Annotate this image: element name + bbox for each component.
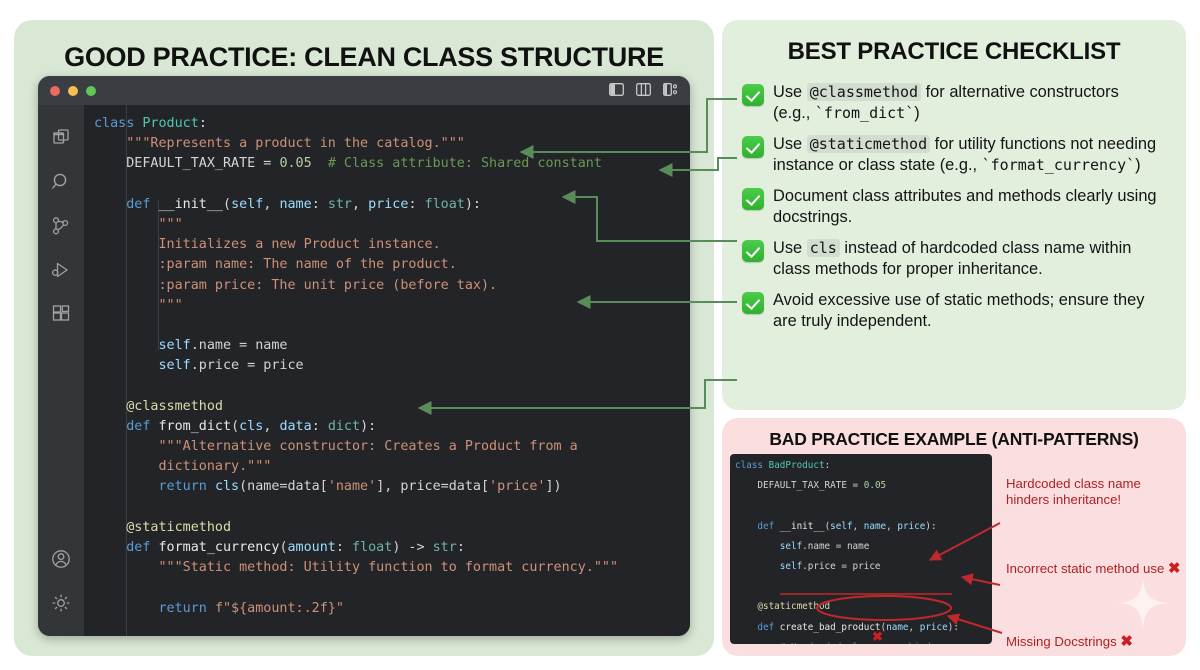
code-token [94,520,126,535]
search-icon[interactable] [50,171,72,193]
code-token: self [231,197,263,212]
code-token: cls [215,479,239,494]
code-token: DEFAULT_TAX_RATE [757,480,847,491]
code-token: float [352,540,392,555]
code-token [735,642,780,644]
code-line: DEFAULT_TAX_RATE = 0.05 [735,479,992,499]
code-line: DEFAULT_TAX_RATE = 0.05 # Class attribut… [94,154,690,174]
toggle-panel-icon[interactable] [636,83,651,96]
code-token: ): [925,521,936,532]
code-line [94,316,690,336]
code-line: """ [94,215,690,235]
good-practice-panel: GOOD PRACTICE: CLEAN CLASS STRUCTURE [14,20,714,656]
code-line: # Hardcoded class name hinders [735,641,992,644]
inline-code: cls [807,239,840,257]
code-token: price [897,521,925,532]
code-token: name [279,197,311,212]
code-line: def __init__(self, name, price): [735,520,992,540]
code-line: self.price = price [735,560,992,580]
extensions-icon[interactable] [50,303,72,325]
python-source-code: class Product: """Represents a product i… [94,114,690,619]
x-mark-icon: ✖ [1168,560,1181,577]
editor-layout-controls [609,83,678,96]
code-token: price [368,197,408,212]
code-token: class [94,116,142,131]
code-token: , [909,622,920,633]
code-token [94,197,126,212]
code-token [94,459,159,474]
code-line: def create_bad_product(name, price): [735,621,992,641]
code-token: ( [231,419,239,434]
code-line: class Product: [94,114,690,134]
code-token [94,560,159,575]
code-token: ( [279,540,287,555]
code-token: ], price=data[ [376,479,489,494]
run-and-debug-icon[interactable] [50,259,72,281]
code-token: ): [465,197,481,212]
checklist-item: Document class attributes and methods cl… [742,186,1172,227]
code-editor-window: class Product: """Represents a product i… [38,76,690,636]
code-token: :param price: The unit price (before tax… [159,278,498,293]
code-line: """ [94,296,690,316]
check-mark-icon [742,292,764,314]
toggle-primary-sidebar-icon[interactable] [609,83,624,96]
code-line [735,499,992,519]
code-token [94,136,126,151]
code-token [312,156,328,171]
code-token: name [864,521,886,532]
code-token [94,419,126,434]
code-token: str [433,540,457,555]
code-token: : [199,116,207,131]
code-token: name [886,622,908,633]
check-mark-icon [742,136,764,158]
text-run: `format_currency` [982,156,1136,174]
checklist-item-label: Use @staticmethod for utility functions … [773,134,1172,175]
code-token: @staticmethod [126,520,231,535]
code-token [735,480,757,491]
code-token: def [126,540,158,555]
editor-activity-bar [38,105,84,636]
code-line: dictionary.""" [94,457,690,477]
code-token: , [263,419,279,434]
code-token [94,257,159,272]
code-line: @staticmethod [94,518,690,538]
best-practice-checklist-panel: BEST PRACTICE CHECKLIST Use @classmethod… [722,20,1186,410]
code-token: : [408,197,424,212]
code-line [94,578,690,598]
code-line: @staticmethod [735,600,992,620]
code-token: , [886,521,897,532]
explorer-icon[interactable] [50,127,72,149]
sparkle-decoration-icon [1116,576,1170,630]
code-token: .price = price [802,561,880,572]
code-token: BadProduct [769,460,825,471]
code-line: :param price: The unit price (before tax… [94,276,690,296]
code-token [94,237,159,252]
code-line: :param name: The name of the product. [94,255,690,275]
code-line: def from_dict(cls, data: dict): [94,417,690,437]
code-token [735,561,780,572]
code-token: 0.05 [279,156,311,171]
code-line: @classmethod [94,397,690,417]
code-token: dict [328,419,360,434]
code-token [94,439,159,454]
editor-title-bar [38,76,690,105]
code-token: from_dict [159,419,232,434]
checklist-item: Avoid excessive use of static methods; e… [742,290,1172,331]
code-token [94,217,159,232]
good-practice-title: GOOD PRACTICE: CLEAN CLASS STRUCTURE [14,42,714,73]
code-line [94,498,690,518]
code-token: @classmethod [126,399,223,414]
code-token: .name = name [191,338,288,353]
code-line: """Represents a product in the catalog."… [94,134,690,154]
code-token [94,540,126,555]
code-token: def [126,419,158,434]
inline-code: @classmethod [807,83,921,101]
code-token: ]) [546,479,562,494]
code-token [94,601,159,616]
code-token: self [830,521,852,532]
code-token: amount [288,540,336,555]
code-token: return [159,479,215,494]
code-token: , [352,197,368,212]
code-token: dictionary.""" [159,459,272,474]
close-window-dot[interactable] [50,86,60,96]
code-token: create_bad_product [780,622,881,633]
code-content-area[interactable]: class Product: """Represents a product i… [84,105,690,636]
code-token: # Class attribute: Shared constant [328,156,602,171]
code-token [735,622,757,633]
code-line [94,376,690,396]
code-token: ( [223,197,231,212]
code-line: class BadProduct: [735,459,992,479]
checklist-item: Use @staticmethod for utility functions … [742,134,1172,175]
window-traffic-lights [50,86,96,96]
code-token: DEFAULT_TAX_RATE [126,156,255,171]
code-token [94,278,159,293]
code-token: , [263,197,279,212]
code-token: data [279,419,311,434]
code-token: """Static method: Utility function to fo… [159,560,619,575]
code-token: format_currency [159,540,280,555]
bad-python-source-code: class BadProduct: DEFAULT_TAX_RATE = 0.0… [735,459,992,644]
code-token [94,338,159,353]
code-token: def [757,521,779,532]
bad-practice-code-block: class BadProduct: DEFAULT_TAX_RATE = 0.0… [730,454,992,644]
code-token: """Alternative constructor: Creates a Pr… [159,439,578,454]
code-token: str [328,197,352,212]
code-token: return [159,601,215,616]
code-line: """Static method: Utility function to fo… [94,558,690,578]
check-mark-icon [742,240,764,262]
code-line: Initializes a new Product instance. [94,235,690,255]
code-token [94,399,126,414]
code-token: """ [159,298,183,313]
annotation-hardcoded-class-name: Hardcoded class name hinders inheritance… [1006,476,1182,508]
code-token: , [853,521,864,532]
code-token: (name=data[ [239,479,328,494]
code-token: 0.05 [864,480,886,491]
check-mark-icon [742,188,764,210]
x-mark-icon: ✖ [1120,633,1133,650]
code-token: """ [159,217,183,232]
code-line: self.name = name [94,336,690,356]
code-token: 'price' [489,479,545,494]
code-line: """Alternative constructor: Creates a Pr… [94,437,690,457]
code-token: self [159,358,191,373]
code-token: ) -> [392,540,432,555]
text-run: ) [1135,156,1140,174]
code-token [735,541,780,552]
code-token [735,601,757,612]
code-token: : [312,419,328,434]
code-token: @staticmethod [757,601,830,612]
text-run: Use [773,83,807,101]
source-control-icon[interactable] [50,215,72,237]
code-token: self [780,561,802,572]
code-line: self.price = price [94,356,690,376]
code-token: # Hardcoded class name hinders [780,642,948,644]
customize-layout-icon[interactable] [663,83,678,96]
code-token: .price = price [191,358,304,373]
check-mark-icon [742,84,764,106]
code-token: ): [948,622,959,633]
text-run: Avoid excessive use of static methods; e… [773,291,1144,330]
code-token: : [336,540,352,555]
code-line: return cls(name=data['name'], price=data… [94,477,690,497]
account-icon[interactable] [50,548,72,570]
settings-gear-icon[interactable] [50,592,72,614]
code-token: = [847,480,864,491]
code-token: : [825,460,831,471]
text-run: Document class attributes and methods cl… [773,187,1157,226]
code-token: .name = name [802,541,869,552]
code-token: Initializes a new Product instance. [159,237,441,252]
bad-practice-title: BAD PRACTICE EXAMPLE (ANTI-PATTERNS) [722,429,1186,450]
code-line: self.name = name [735,540,992,560]
checklist-title: BEST PRACTICE CHECKLIST [722,38,1186,66]
code-token [94,156,126,171]
code-token: : [312,197,328,212]
code-token: """Represents a product in the catalog."… [126,136,465,151]
minimize-window-dot[interactable] [68,86,78,96]
code-token: def [757,622,779,633]
checklist-item: Use @classmethod for alternative constru… [742,82,1172,123]
code-token: f"${amount:.2f}" [215,601,344,616]
checklist-item-label: Use @classmethod for alternative constru… [773,82,1172,123]
code-token: class [735,460,769,471]
code-line: def format_currency(amount: float) -> st… [94,538,690,558]
infographic-root: GOOD PRACTICE: CLEAN CLASS STRUCTURE [0,0,1200,670]
checklist-item-label: Document class attributes and methods cl… [773,186,1172,227]
inline-code: @staticmethod [807,135,930,153]
code-token: __init__ [159,197,224,212]
code-token [94,479,159,494]
code-token [735,521,757,532]
code-token: = [255,156,279,171]
code-token: 'name' [328,479,376,494]
code-token: self [159,338,191,353]
text-run: `from_dict` [815,104,914,122]
code-line [735,580,992,600]
text-run: ) [914,104,919,122]
code-token: __init__ [780,521,825,532]
code-token [94,358,159,373]
code-token [94,298,159,313]
code-line: def __init__(self, name: str, price: flo… [94,195,690,215]
checklist-item-label: Avoid excessive use of static methods; e… [773,290,1172,331]
annotation-missing-docstrings: Missing Docstrings ✖ [1006,634,1182,650]
bad-practice-panel: BAD PRACTICE EXAMPLE (ANTI-PATTERNS) cla… [722,418,1186,656]
code-token: float [425,197,465,212]
text-run: Use [773,239,807,257]
code-token: Product [142,116,198,131]
checklist-items: Use @classmethod for alternative constru… [742,82,1172,342]
code-token: : [457,540,465,555]
checklist-item-label: Use cls instead of hardcoded class name … [773,238,1172,279]
code-token: price [920,622,948,633]
code-line: return f"${amount:.2f}" [94,599,690,619]
code-token: :param name: The name of the product. [159,257,457,272]
maximize-window-dot[interactable] [86,86,96,96]
code-line [94,175,690,195]
code-token: cls [239,419,263,434]
checklist-item: Use cls instead of hardcoded class name … [742,238,1172,279]
text-run: Use [773,135,807,153]
code-token: self [780,541,802,552]
code-token: ): [360,419,376,434]
annotation-incorrect-static-method: Incorrect static method use ✖ [1006,561,1182,577]
code-token: def [126,197,158,212]
